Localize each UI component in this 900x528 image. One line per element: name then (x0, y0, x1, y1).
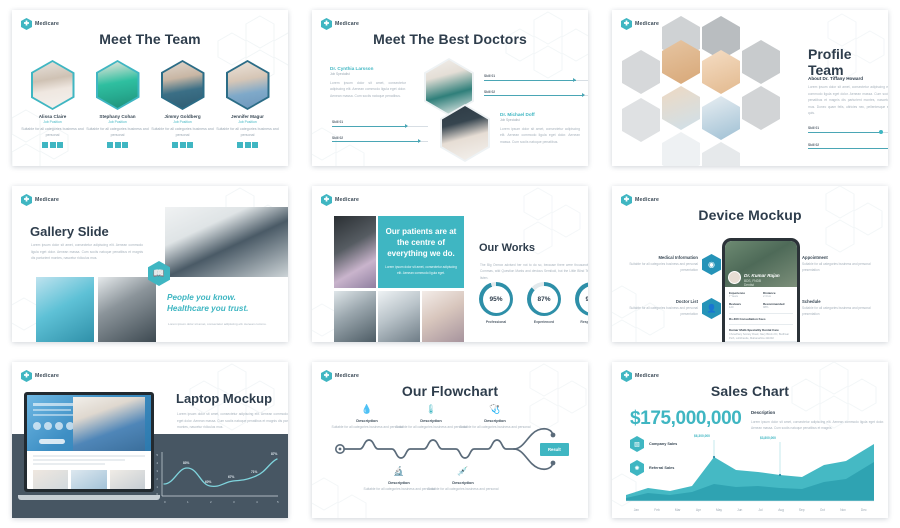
hexagon-logo-icon (21, 370, 32, 382)
phone-address-row: Chowdhary Society Road, Navy Block 2/C, … (729, 333, 793, 341)
skill-label: Skill 02 (484, 90, 588, 94)
brand-name: Medicare (635, 197, 659, 203)
doctor-role: Job Specialist (500, 118, 580, 122)
svg-text:67%: 67% (228, 475, 235, 479)
brand-name: Medicare (335, 21, 359, 27)
stat-label: Professional (486, 320, 506, 324)
area-chart (612, 362, 888, 518)
svg-text:87%: 87% (271, 452, 278, 456)
profile-body: Lorem ipsum dolor sit amet, consectetur … (808, 84, 888, 117)
x-label: Feb (647, 508, 668, 512)
hexagon-logo-icon (321, 18, 332, 30)
node-body: Suitable for all categories business and… (362, 487, 436, 493)
works-image-2[interactable] (378, 291, 420, 342)
hexagon-logo-icon (321, 370, 332, 382)
member-role: Job Position (238, 120, 256, 124)
node-title: Description (330, 418, 404, 423)
works-callout: Our patients are at the centre of everyt… (378, 216, 464, 288)
brand-logo[interactable]: Medicare (21, 18, 59, 30)
facebook-icon[interactable] (122, 142, 128, 148)
phone-metric: Reviews 120 (729, 302, 759, 309)
linkedin-icon[interactable] (50, 142, 56, 148)
works-image-3[interactable] (422, 291, 464, 342)
social-links[interactable] (237, 142, 258, 148)
flow-node-5[interactable]: 💉 Description Suitable for all categorie… (426, 466, 500, 493)
doctor-name: Dr. Cynthia Larsson (330, 66, 406, 71)
slide-our-works[interactable]: Medicare Our patients are at the centre … (312, 186, 588, 342)
brand-logo[interactable]: Medicare (621, 194, 659, 206)
skill-label: Skill 01 (484, 74, 588, 78)
node-body: Suitable for all categories business and… (458, 425, 532, 431)
donut-chart: 95% (479, 282, 513, 316)
member-name: Alissa Claire (39, 114, 67, 119)
feature-body: Suitable for all categories business and… (802, 306, 884, 317)
hexagon-logo-icon (21, 194, 32, 206)
metric-value: 98% (763, 306, 793, 309)
skill-bar[interactable] (808, 148, 888, 149)
twitter-icon[interactable] (237, 142, 243, 148)
brand-name: Medicare (335, 197, 359, 203)
brand-logo[interactable]: Medicare (321, 194, 359, 206)
facebook-icon[interactable] (57, 142, 63, 148)
profile-subtitle: About Dr. Tiffany Howard (808, 76, 863, 81)
slide-title: Device Mockup (612, 207, 888, 223)
member-name: Jennifer Magur (231, 114, 264, 119)
stat-label: Experienced (534, 320, 554, 324)
phone-metric: Recommended 98% (763, 302, 793, 309)
microscope-icon: 🔬 (362, 466, 436, 477)
donut-chart: 98% (575, 282, 588, 316)
team-member[interactable]: Stephany Cohan Job Position Suitable for… (85, 60, 150, 148)
x-label: Jul (750, 508, 771, 512)
stat-item: 95% Professional (479, 282, 513, 324)
skill-label: Skill 01 (332, 120, 428, 124)
svg-text:3: 3 (233, 500, 235, 504)
team-list: Alissa Claire Job Position Suitable for … (20, 60, 280, 148)
slide-laptop-mockup[interactable]: Medicare 5 4 3 2 1 0 0 1 2 3 4 (12, 362, 288, 518)
hexagon-logo-icon (321, 194, 332, 206)
doctor-body: Lorem ipsum dolor sit amet, consectetur … (500, 126, 580, 145)
user-icon: 👤 (702, 298, 721, 319)
slide-cell-1: Medicare Meet The Team Alissa Claire Job… (0, 0, 300, 176)
doctor-name: Dr. Kumar Rajan (744, 273, 780, 278)
slide-device-mockup[interactable]: Medicare Device Mockup Medical Informati… (612, 186, 888, 342)
stat-value: 95% (483, 286, 510, 313)
works-body: The Big Oxmox advised her not to do so, … (480, 262, 588, 281)
feature-body: Suitable for all categories business and… (616, 262, 698, 273)
slide-sales-chart[interactable]: Medicare Sales Chart $175,000,000 Descri… (612, 362, 888, 518)
member-name: Jimmy Goldberg (164, 114, 200, 119)
x-label: Jan (626, 508, 647, 512)
works-image-top[interactable] (334, 216, 376, 288)
node-title: Description (362, 480, 436, 485)
member-desc: Suitable for all categories business and… (215, 127, 280, 138)
linkedin-icon[interactable] (115, 142, 121, 148)
doctor-card[interactable]: Dr. Michael Doff Job Specialist Lorem ip… (500, 112, 580, 145)
chart-annotation-sep: $3,800,000 (760, 436, 776, 440)
node-title: Description (458, 418, 532, 423)
svg-text:5: 5 (156, 453, 158, 457)
callout-sub: Lorem ipsum dolor sit amet, consectetur … (385, 265, 457, 277)
slide-title: Laptop Mockup (176, 391, 272, 406)
x-label: Aug (771, 508, 792, 512)
x-label: Apr (688, 508, 709, 512)
skill-bar[interactable] (808, 132, 888, 133)
flow-node-2[interactable]: 🌡 Description Suitable for all categorie… (394, 404, 468, 431)
x-label: May (709, 508, 730, 512)
social-links[interactable] (42, 142, 63, 148)
slide-cell-8: Medicare Our Flowchart 💧 Description Sui… (300, 352, 600, 528)
stethoscope-icon: 🩺 (458, 404, 532, 415)
svg-text:3: 3 (156, 469, 158, 473)
svg-text:1: 1 (156, 485, 158, 489)
slide-title: Meet The Best Doctors (312, 31, 588, 47)
phone-clinic-row: Kumar Multi-Speciality Dental Care (729, 324, 793, 332)
phone-screen: Dr. Kumar Rajan BDS, FNDB Dentist Experi… (725, 241, 797, 342)
svg-text:2: 2 (156, 477, 158, 481)
team-member[interactable]: Jennifer Magur Job Position Suitable for… (215, 60, 280, 148)
skill-bar (332, 141, 428, 142)
slide-cell-3: Medicare Profile Team About Dr. Tiffany … (600, 0, 900, 176)
slide-title: Meet The Team (12, 31, 288, 47)
metric-value: 7 Years (729, 295, 759, 298)
avatar (161, 60, 205, 110)
feature-doctor-list[interactable]: Doctor List Suitable for all categories … (616, 298, 721, 319)
member-desc: Suitable for all categories business and… (85, 127, 150, 138)
slide-cell-5: Medicare Our patients are at the centre … (300, 176, 600, 352)
stethoscope-path (312, 362, 588, 518)
x-label: Jun (729, 508, 750, 512)
feature-body: Suitable for all categories business and… (802, 262, 884, 273)
slide-grid: Medicare Meet The Team Alissa Claire Job… (0, 0, 900, 528)
brand-logo[interactable]: Medicare (21, 194, 59, 206)
feature-body: Suitable for all categories business and… (616, 306, 698, 317)
slide-title: Our Works (479, 242, 535, 254)
member-desc: Suitable for all categories business and… (20, 127, 85, 138)
doctor-body: Lorem ipsum dolor sit amet, consectetur … (330, 80, 406, 99)
quote-line-2: Healthcare you trust. (167, 304, 248, 313)
stat-group: 95% Professional 87% Experienced 98% Res… (479, 282, 588, 324)
social-links[interactable] (107, 142, 128, 148)
phone-metric: Distance 2.3 km (763, 291, 793, 298)
camera-icon: ◉ (702, 254, 721, 275)
brand-logo[interactable]: Medicare (621, 370, 659, 382)
stat-item: 98% Responsibility (575, 282, 588, 324)
feature-title: Appointment (802, 255, 884, 260)
brand-name: Medicare (335, 373, 359, 379)
node-body: Suitable for all categories business and… (330, 425, 404, 431)
slide-gallery[interactable]: Medicare Gallery Slide Lorem ipsum dolor… (12, 186, 288, 342)
laptop-body: Lorem ipsum dolor sit amet, consectetur … (177, 411, 288, 431)
skill-label: Skill 02 (808, 143, 888, 147)
blood-drop-icon: 💧 (330, 404, 404, 415)
hexagon-logo-icon (621, 194, 632, 206)
feature-title: Doctor List (616, 299, 698, 304)
brand-name: Medicare (635, 373, 659, 379)
phone-metric: Experience 7 Years (729, 291, 759, 298)
twitter-icon[interactable] (42, 142, 48, 148)
feature-title: Medical Information (616, 255, 698, 260)
brand-logo[interactable]: Medicare (21, 370, 59, 382)
skill-label: Skill 01 (808, 126, 888, 130)
node-title: Description (394, 418, 468, 423)
x-label: Oct (812, 508, 833, 512)
team-member[interactable]: Jimmy Goldberg Job Position Suitable for… (150, 60, 215, 148)
skill-label: Skill 02 (332, 136, 428, 140)
thermometer-icon: 🌡 (394, 404, 468, 415)
twitter-icon[interactable] (107, 142, 113, 148)
svg-text:60%: 60% (205, 480, 212, 484)
laptop-base (18, 495, 160, 500)
feature-title: Schedule (802, 299, 884, 304)
feature-medical-information[interactable]: Medical Information Suitable for all cat… (616, 254, 721, 275)
phone-mockup[interactable]: Dr. Kumar Rajan BDS, FNDB Dentist Experi… (722, 238, 800, 342)
member-desc: Suitable for all categories business and… (150, 127, 215, 138)
doctor-card[interactable]: Dr. Cynthia Larsson Job Specialist Lorem… (330, 66, 406, 99)
x-axis-labels: Jan Feb Mar Apr May Jun Jul Aug Sep Oct … (626, 508, 874, 512)
flow-node-1[interactable]: 💧 Description Suitable for all categorie… (330, 404, 404, 431)
flow-node-3[interactable]: 🩺 Description Suitable for all categorie… (458, 404, 532, 431)
slide-profile-team[interactable]: Medicare Profile Team About Dr. Tiffany … (612, 10, 888, 166)
profile-photo-cluster (612, 10, 790, 166)
hexagon-logo-icon (621, 18, 632, 30)
x-label: Dec (853, 508, 874, 512)
doctor-sub: Dentist (744, 283, 754, 287)
svg-text:4: 4 (256, 500, 258, 504)
facebook-icon[interactable] (252, 142, 258, 148)
phone-fee-row: Rs.300 Consultation Fees (729, 313, 793, 321)
skill-group: Skill 01 Skill 02 (484, 74, 588, 96)
svg-text:1: 1 (187, 500, 189, 504)
brand-name: Medicare (35, 21, 59, 27)
brand-logo[interactable]: Medicare (621, 18, 659, 30)
linkedin-icon[interactable] (180, 142, 186, 148)
stat-label: Responsibility (580, 320, 588, 324)
node-title: Description (426, 480, 500, 485)
node-body: Suitable for all categories business and… (426, 487, 500, 493)
chart-annotation-may: $6,300,000 (694, 434, 710, 438)
doctor-name: Dr. Michael Doff (500, 112, 580, 117)
team-member[interactable]: Alissa Claire Job Position Suitable for … (20, 60, 85, 148)
hexagon-logo-icon (21, 18, 32, 30)
stat-value: 98% (579, 286, 589, 313)
slide-title: Profile Team (808, 46, 888, 78)
doctor-role: Job Specialist (330, 72, 406, 76)
gallery-body: Lorem ipsum dolor sit amet, consectetur … (31, 242, 143, 262)
member-role: Job Position (108, 120, 126, 124)
avatar (96, 60, 140, 110)
stat-item: 87% Experienced (527, 282, 561, 324)
quote-line-1: People you know. (167, 293, 236, 302)
result-button[interactable]: Result (540, 443, 569, 456)
callout-heading: Our patients are at the centre of everyt… (385, 227, 457, 259)
svg-text:4: 4 (156, 461, 158, 465)
gallery-quote: People you know. Healthcare you trust. (167, 292, 248, 314)
gallery-quote-sub: Lorem ipsum dolor sit amet, consectetur … (168, 322, 288, 326)
svg-text:0: 0 (164, 500, 166, 504)
avatar (226, 60, 270, 110)
slide-cell-7: Medicare 5 4 3 2 1 0 0 1 2 3 4 (0, 352, 300, 528)
social-links[interactable] (172, 142, 193, 148)
slide-meet-the-team[interactable]: Medicare Meet The Team Alissa Claire Job… (12, 10, 288, 166)
donut-chart: 87% (527, 282, 561, 316)
slide-title: Gallery Slide (30, 224, 109, 239)
syringe-icon: 💉 (426, 466, 500, 477)
laptop-mockup[interactable] (24, 392, 154, 492)
gallery-image-main[interactable] (165, 207, 288, 277)
slide-cell-2: Medicare Meet The Best Doctors Dr. Cynth… (300, 0, 600, 176)
stat-value: 87% (531, 286, 558, 313)
node-body: Suitable for all categories business and… (394, 425, 468, 431)
gallery-image-1[interactable] (36, 277, 94, 342)
svg-text:71%: 71% (251, 470, 258, 474)
brand-name: Medicare (635, 21, 659, 27)
skill-group: Skill 01 Skill 02 (808, 126, 888, 149)
member-name: Stephany Cohan (99, 114, 135, 119)
slide-cell-6: Medicare Device Mockup Medical Informati… (600, 176, 900, 352)
member-role: Job Position (43, 120, 61, 124)
avatar (728, 271, 741, 284)
brand-name: Medicare (35, 373, 59, 379)
brand-name: Medicare (35, 197, 59, 203)
facebook-icon[interactable] (187, 142, 193, 148)
twitter-icon[interactable] (172, 142, 178, 148)
slide-cell-9: Medicare Sales Chart $175,000,000 Descri… (600, 352, 900, 528)
metric-value: 120 (729, 306, 759, 309)
slide-meet-the-best-doctors[interactable]: Medicare Meet The Best Doctors Dr. Cynth… (312, 10, 588, 166)
brand-logo[interactable]: Medicare (321, 18, 359, 30)
x-label: Nov (833, 508, 854, 512)
x-label: Mar (667, 508, 688, 512)
svg-text:83%: 83% (183, 461, 190, 465)
metric-value: 2.3 km (763, 295, 793, 298)
avatar (31, 60, 75, 110)
svg-text:2: 2 (210, 500, 212, 504)
slide-cell-4: Medicare Gallery Slide Lorem ipsum dolor… (0, 176, 300, 352)
brand-logo[interactable]: Medicare (321, 370, 359, 382)
slide-our-flowchart[interactable]: Medicare Our Flowchart 💧 Description Sui… (312, 362, 588, 518)
member-role: Job Position (173, 120, 191, 124)
flow-node-4[interactable]: 🔬 Description Suitable for all categorie… (362, 466, 436, 493)
skill-group: Skill 01 Skill 02 (332, 120, 428, 142)
skill-bar (484, 80, 588, 81)
gallery-image-2[interactable] (98, 277, 156, 342)
x-label: Sep (791, 508, 812, 512)
linkedin-icon[interactable] (245, 142, 251, 148)
skill-bar (484, 95, 588, 96)
skill-bar (332, 126, 428, 127)
works-image-1[interactable] (334, 291, 376, 342)
hexagon-logo-icon (621, 370, 632, 382)
svg-text:5: 5 (277, 500, 279, 504)
